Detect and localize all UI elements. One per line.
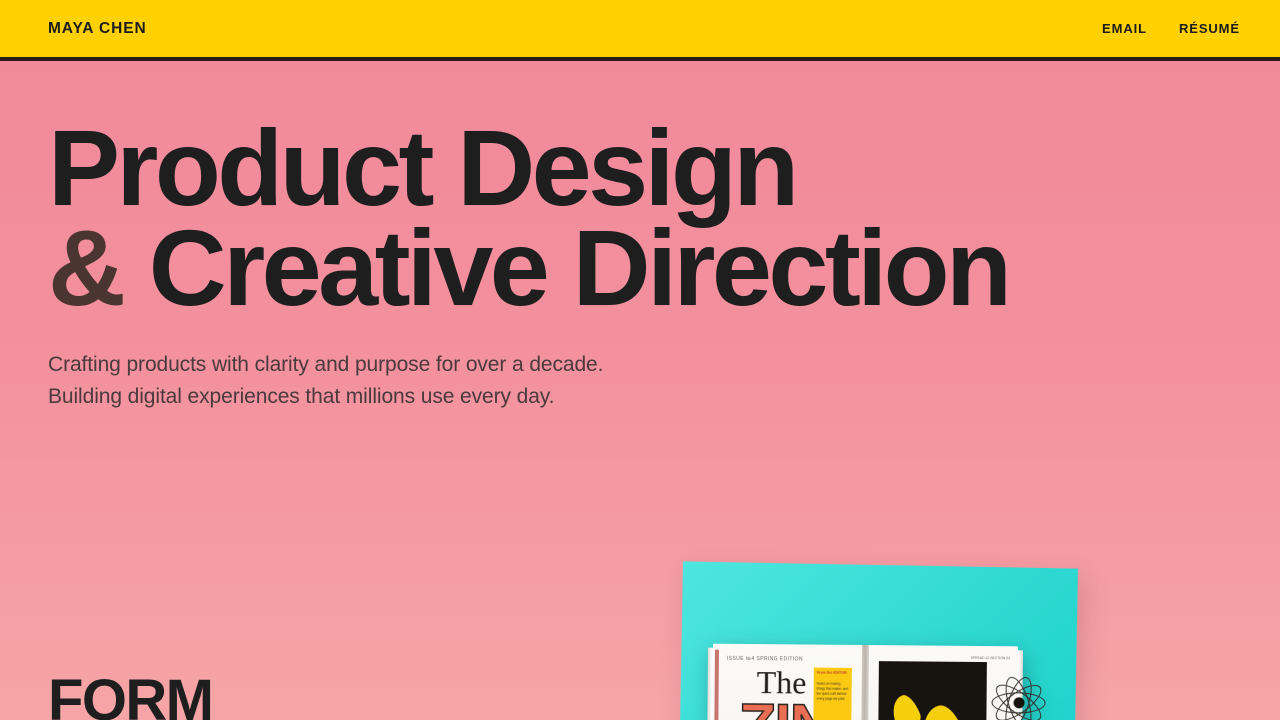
pear-shape-large-icon [916,701,968,720]
magazine-folio: SPREAD 12 SECTION 03 [971,656,1010,662]
sidebar-body-text: Notes on making things that matter, and … [817,682,849,703]
hero-subtitle-line-1: Crafting products with clarity and purpo… [48,353,603,376]
magazine-masthead: ISSUE №4 SPRING EDITION [727,656,803,664]
sidebar-heading: From the EDITOR [817,671,849,677]
headline-line-1: Product Design [48,118,1008,218]
magazine-left-page: ISSUE №4 SPRING EDITION The ZIN From the… [711,644,862,720]
brand-logo[interactable]: MAYA CHEN [48,20,147,38]
hero-subtitle: Crafting products with clarity and purpo… [48,349,1008,413]
magazine-right-page: SPREAD 12 SECTION 03 REVISE: co [867,645,1018,720]
atom-nucleus [1013,697,1024,708]
nav-link-email[interactable]: EMAIL [1102,21,1147,36]
section-heading-form: FORM [48,672,212,720]
hero-section: Product Design & Creative Direction Craf… [48,118,1008,413]
magazine-spread: ISSUE №4 SPRING EDITION The ZIN From the… [711,644,1018,720]
headline-line-2: & Creative Direction [48,218,1008,318]
magazine-yellow-sidebar: From the EDITOR Notes on making things t… [813,668,852,720]
showcase-image: ISSUE №4 SPRING EDITION The ZIN From the… [660,540,1280,720]
pear-shape-small-icon [887,692,924,720]
atom-diagram-icon [990,674,1046,720]
primary-navigation: EMAIL RÉSUMÉ [1102,21,1240,36]
page-title: Product Design & Creative Direction [48,118,1008,319]
headline-line-2-text: Creative Direction [122,207,1008,328]
hero-subtitle-line-2: Building digital experiences that millio… [48,385,554,408]
black-illustration-panel [878,661,987,720]
nav-link-resume[interactable]: RÉSUMÉ [1179,21,1240,36]
page-edge-accent [713,650,719,720]
site-header: MAYA CHEN EMAIL RÉSUMÉ [0,0,1280,61]
ampersand-glyph: & [48,207,122,328]
